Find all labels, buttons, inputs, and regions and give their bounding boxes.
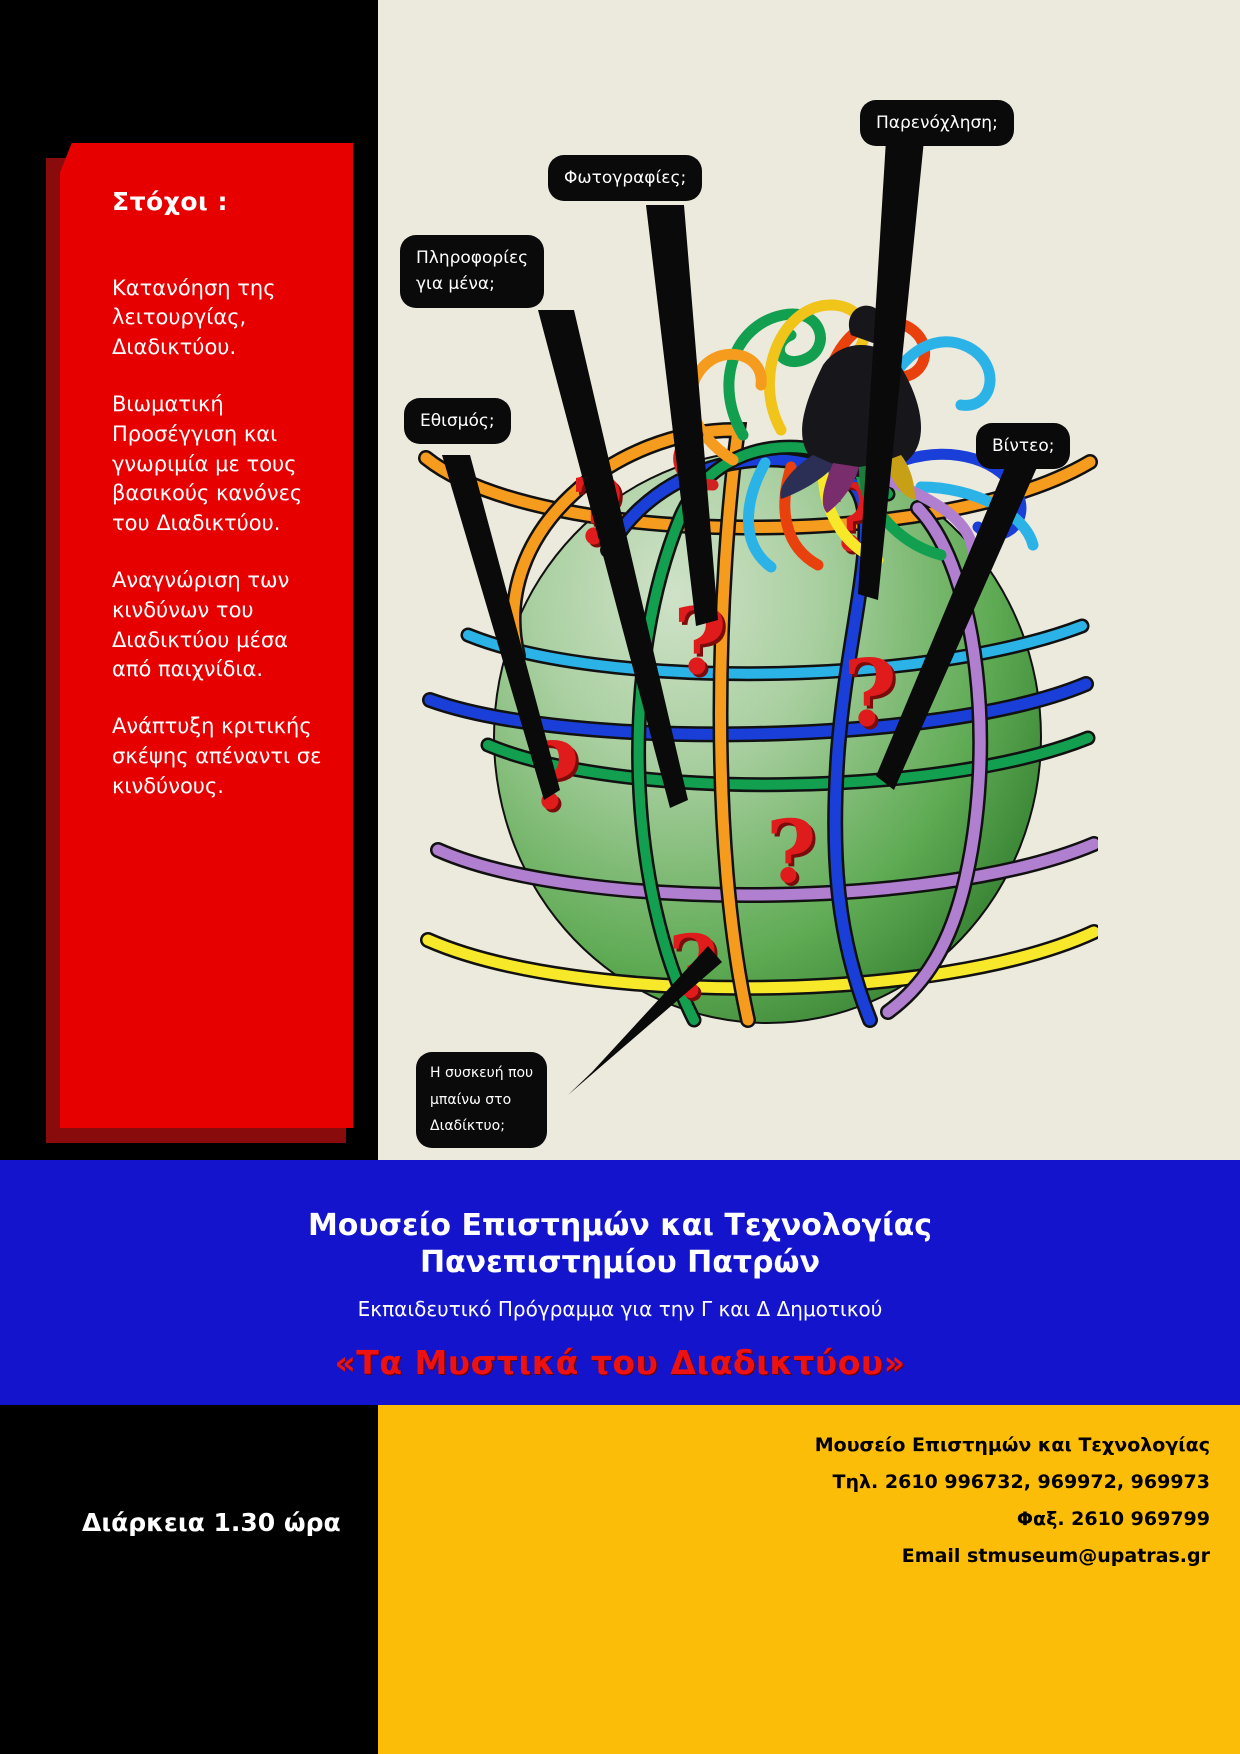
bubble-device[interactable]: Η συσκευή που μπαίνω στο Διαδίκτυο; (416, 1052, 547, 1148)
objective-item: Αναγνώριση των κινδύνων του Διαδικτύου μ… (112, 566, 327, 685)
bubble-addiction[interactable]: Εθισμός; (404, 398, 511, 444)
footer-row: Διάρκεια 1.30 ώρα Μουσείο Επιστημών και … (0, 1405, 1240, 1754)
contact-fax: Φαξ. 2610 969799 (378, 1501, 1240, 1538)
bubble-info-about-me[interactable]: Πληροφορίες για μένα; (400, 235, 544, 308)
duration-label: Διάρκεια 1.30 ώρα (82, 1508, 341, 1537)
objectives-title: Στόχοι : (112, 188, 327, 216)
program-title: «Τα Μυστικά του Διαδικτύου» (0, 1343, 1240, 1382)
objectives-content: Στόχοι : Κατανόηση της λειτουργίας, Διαδ… (112, 188, 327, 1108)
bubble-video[interactable]: Βίντεο; (976, 423, 1070, 469)
bubble-photos[interactable]: Φωτογραφίες; (548, 155, 702, 201)
organisation-line-2: Πανεπιστημίου Πατρών (0, 1245, 1240, 1282)
contact-phone: Τηλ. 2610 996732, 969972, 969973 (378, 1464, 1240, 1501)
program-subtitle: Εκπαιδευτικό Πρόγραμμα για την Γ και Δ Δ… (0, 1297, 1240, 1321)
objective-item: Βιωματική Προσέγγιση και γνωριμία με του… (112, 390, 327, 539)
blue-banner: Μουσείο Επιστημών και Τεχνολογίας Πανεπι… (0, 1160, 1240, 1405)
objective-item: Κατανόηση της λειτουργίας, Διαδικτύου. (112, 274, 327, 363)
organisation-line-1: Μουσείο Επιστημών και Τεχνολογίας (0, 1160, 1240, 1245)
bubble-harassment[interactable]: Παρενόχληση; (860, 100, 1014, 146)
bubble-tails (378, 0, 1240, 1160)
objective-item: Ανάπτυξη κριτικής σκέψης απέναντι σε κιν… (112, 712, 327, 801)
contact-box: Μουσείο Επιστημών και Τεχνολογίας Τηλ. 2… (378, 1405, 1240, 1754)
contact-email[interactable]: Email stmuseum@upatras.gr (378, 1538, 1240, 1575)
contact-name: Μουσείο Επιστημών και Τεχνολογίας (378, 1405, 1240, 1464)
poster-root: ? ? ? ? ? ? ? (0, 0, 1240, 1754)
artwork-panel: ? ? ? ? ? ? ? (378, 0, 1240, 1160)
